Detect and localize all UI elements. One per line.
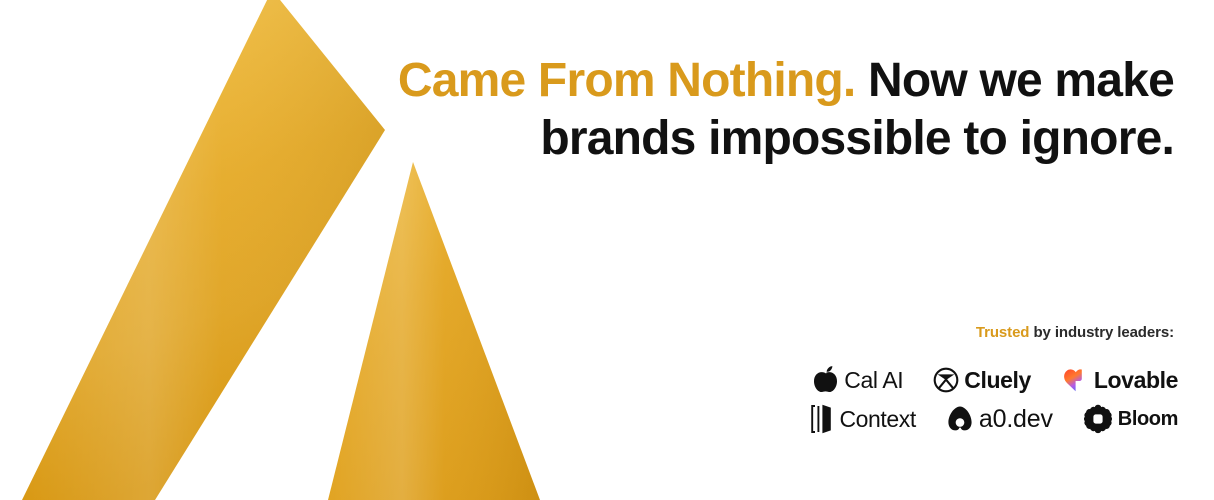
arch-arrow-icon <box>946 405 974 433</box>
logo-right-wedge <box>328 162 540 500</box>
headline-accent: Came From Nothing. <box>398 54 856 107</box>
apple-icon <box>813 366 839 394</box>
trusted-accent: Trusted <box>976 324 1029 341</box>
partner-logo-label: Bloom <box>1118 408 1178 431</box>
logo-left-stroke <box>22 0 385 500</box>
trusted-rest: by industry leaders: <box>1029 324 1174 341</box>
partner-logo-label: Cal AI <box>844 367 903 394</box>
partner-logo-row-2: Context a0.dev Bloom <box>810 404 1178 434</box>
heart-gradient-icon <box>1061 366 1089 394</box>
partner-logo-context[interactable]: Context <box>810 404 915 434</box>
trusted-line: Trusted by industry leaders: <box>976 324 1174 341</box>
partner-logo-bloom[interactable]: Bloom <box>1083 404 1178 434</box>
partner-logo-cal-ai[interactable]: Cal AI <box>813 366 903 394</box>
partner-logos: Cal AI Cluely <box>810 366 1178 434</box>
partner-logo-lovable[interactable]: Lovable <box>1061 366 1178 394</box>
flower-square-icon <box>1083 404 1113 434</box>
partner-logo-cluely[interactable]: Cluely <box>933 367 1031 394</box>
bracket-door-icon <box>810 404 834 434</box>
partner-logo-label: Cluely <box>964 367 1031 394</box>
partner-logo-row-1: Cal AI Cluely <box>813 366 1178 394</box>
partner-logo-label: a0.dev <box>979 405 1053 434</box>
partner-logo-a0-dev[interactable]: a0.dev <box>946 405 1053 434</box>
cluely-circle-icon <box>933 367 959 393</box>
headline: Came From Nothing. Now we make brands im… <box>374 52 1174 168</box>
partner-logo-label: Lovable <box>1094 367 1178 394</box>
partner-logo-label: Context <box>839 406 915 433</box>
hero-banner: Came From Nothing. Now we make brands im… <box>0 0 1214 500</box>
